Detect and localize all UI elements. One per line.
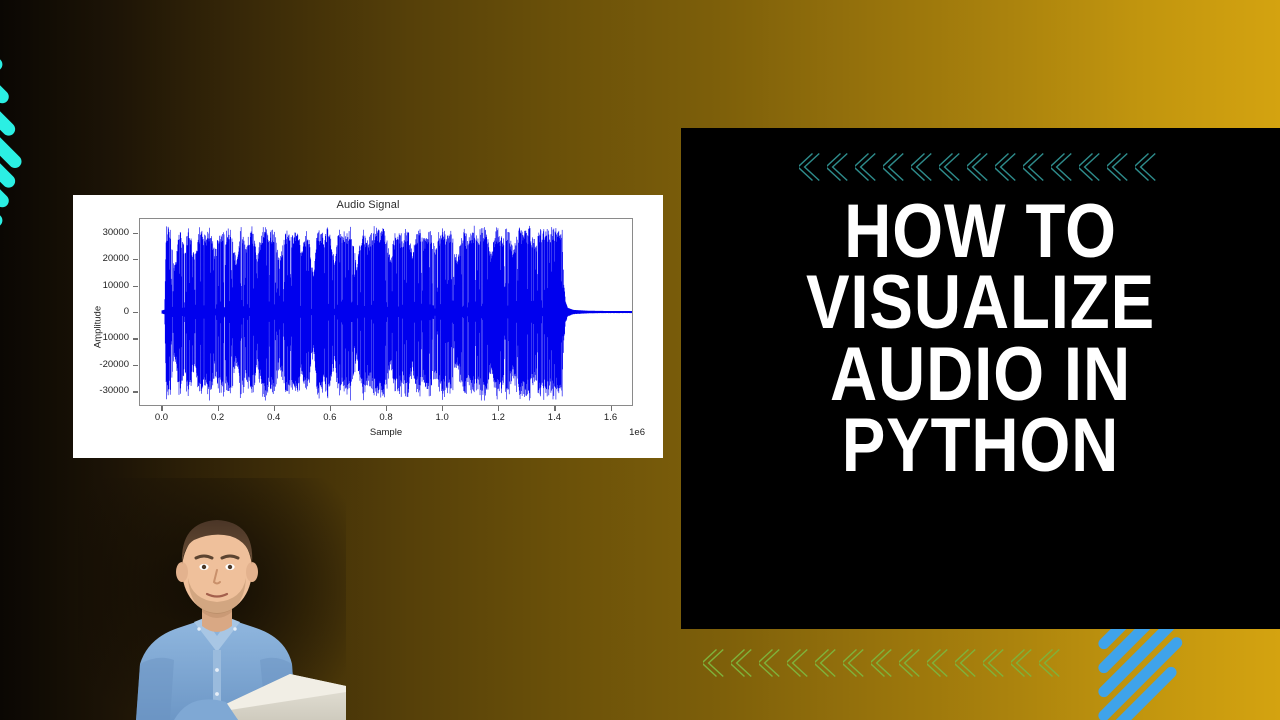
x-tick-label: 0.8 — [369, 412, 403, 423]
presenter-photo — [78, 478, 346, 720]
chevron-left-icon — [1051, 149, 1078, 185]
x-tick-label: 0.6 — [313, 412, 347, 423]
x-tick-mark — [554, 406, 555, 411]
y-tick-label: -10000 — [73, 332, 129, 343]
chevron-left-icon — [703, 645, 730, 681]
x-tick-label: 1.2 — [481, 412, 515, 423]
chevron-left-icon — [883, 149, 910, 185]
chevron-left-icon — [843, 645, 870, 681]
chevron-left-icon — [855, 149, 882, 185]
y-tick-label: 0 — [73, 306, 129, 317]
chevron-left-icon — [815, 645, 842, 681]
x-tick-label: 1.4 — [537, 412, 571, 423]
waveform-strokes — [162, 226, 632, 401]
x-tick-mark — [274, 406, 275, 411]
chevron-left-icon — [799, 149, 826, 185]
chevron-left-icon — [1023, 149, 1050, 185]
audio-signal-chart: Audio Signal Amplitude 3000020000100000-… — [73, 195, 663, 458]
y-tick-label: 30000 — [73, 227, 129, 238]
y-tick-label: 10000 — [73, 280, 129, 291]
x-tick-mark — [218, 406, 219, 411]
title-line-1: HOW TO — [723, 196, 1238, 267]
plot-area — [139, 218, 633, 406]
chevron-row-bottom — [703, 645, 1066, 681]
x-tick-mark — [330, 406, 331, 411]
title-line-3: AUDIO IN — [723, 339, 1238, 410]
chevron-left-icon — [939, 149, 966, 185]
x-tick-mark — [611, 406, 612, 411]
title-panel: HOW TO VISUALIZE AUDIO IN PYTHON — [681, 128, 1280, 629]
chevron-row-top — [799, 144, 1162, 190]
chevron-left-icon — [1107, 149, 1134, 185]
chevron-left-icon — [1039, 645, 1066, 681]
chevron-left-icon — [1011, 645, 1038, 681]
chart-title: Audio Signal — [73, 199, 663, 211]
chevron-left-icon — [827, 149, 854, 185]
x-tick-label: 0.0 — [144, 412, 178, 423]
y-tick-mark — [133, 391, 138, 392]
y-tick-mark — [133, 286, 138, 287]
chevron-left-icon — [967, 149, 994, 185]
chevron-left-icon — [927, 645, 954, 681]
chevron-left-icon — [731, 645, 758, 681]
title-line-2: VISUALIZE — [723, 267, 1238, 338]
chevron-left-icon — [911, 149, 938, 185]
chevron-left-icon — [759, 645, 786, 681]
chevron-left-icon — [871, 645, 898, 681]
chevron-left-icon — [983, 645, 1010, 681]
y-tick-label: -30000 — [73, 385, 129, 396]
y-tick-mark — [133, 312, 138, 313]
x-tick-mark — [161, 406, 162, 411]
y-tick-label: 20000 — [73, 253, 129, 264]
waveform-plot — [140, 219, 632, 405]
title-line-4: PYTHON — [723, 410, 1238, 481]
x-tick-label: 0.4 — [257, 412, 291, 423]
y-tick-label: -20000 — [73, 359, 129, 370]
y-tick-mark — [133, 365, 138, 366]
x-tick-label: 1.6 — [594, 412, 628, 423]
x-tick-mark — [386, 406, 387, 411]
chevron-left-icon — [1079, 149, 1106, 185]
chevron-left-icon — [955, 645, 982, 681]
chevron-left-icon — [995, 149, 1022, 185]
x-tick-label: 1.0 — [425, 412, 459, 423]
x-axis-offset-label: 1e6 — [629, 427, 645, 438]
x-tick-mark — [498, 406, 499, 411]
chevron-left-icon — [787, 645, 814, 681]
chevron-left-icon — [1135, 149, 1162, 185]
y-tick-mark — [133, 233, 138, 234]
x-tick-label: 0.2 — [201, 412, 235, 423]
x-axis-label: Sample — [139, 427, 633, 438]
y-tick-mark — [133, 259, 138, 260]
page-title: HOW TO VISUALIZE AUDIO IN PYTHON — [723, 196, 1238, 482]
y-tick-mark — [133, 338, 138, 339]
chevron-left-icon — [899, 645, 926, 681]
x-tick-mark — [442, 406, 443, 411]
